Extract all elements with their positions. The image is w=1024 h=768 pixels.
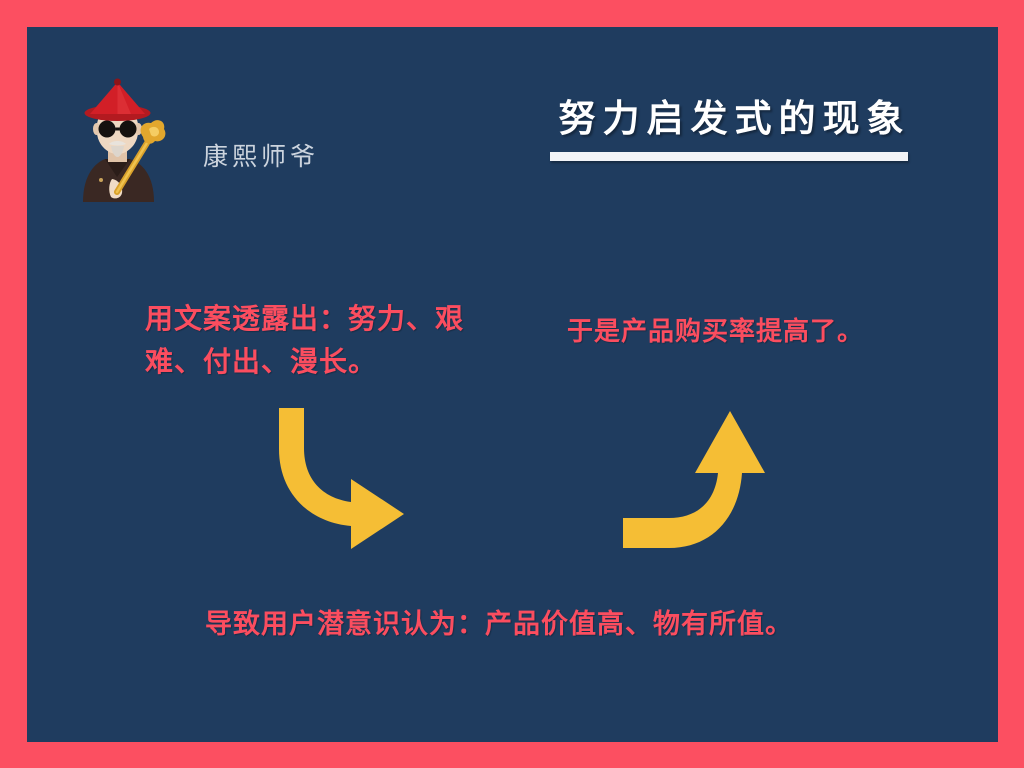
curved-arrow-up-icon (619, 405, 769, 553)
conclusion-text: 导致用户潜意识认为：产品价值高、物有所值。 (205, 605, 905, 644)
cause-text: 用文案透露出：努力、艰难、付出、漫长。 (145, 299, 475, 384)
slide-panel: 康熙师爷 努力启发式的现象 用文案透露出：努力、艰难、付出、漫长。 于是产品购买… (27, 27, 998, 742)
brand-name: 康熙师爷 (203, 137, 319, 173)
curved-arrow-down-right-icon (263, 401, 413, 551)
page-title-text: 努力启发式的现象 (542, 97, 927, 143)
effect-text: 于是产品购买率提高了。 (567, 312, 947, 351)
page-title: 努力启发式的现象 (542, 97, 927, 161)
qing-official-avatar-icon (65, 67, 170, 202)
slide-canvas: 康熙师爷 努力启发式的现象 用文案透露出：努力、艰难、付出、漫长。 于是产品购买… (0, 0, 1024, 768)
brand-block: 康熙师爷 (65, 67, 330, 202)
title-underline (550, 152, 908, 161)
